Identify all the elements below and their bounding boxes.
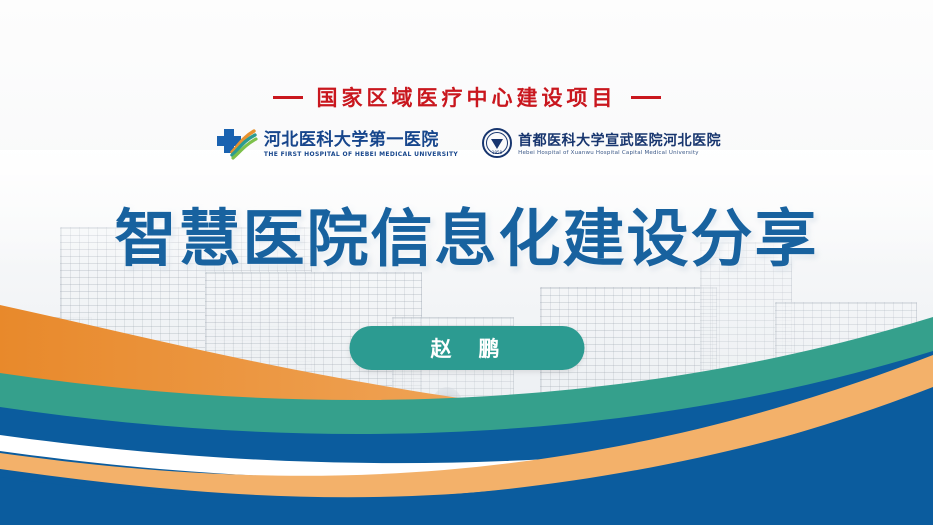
logo-text-group: 首都医科大学宣武医院河北医院 Hebei Hospital of Xuanwu … bbox=[518, 134, 721, 157]
logo-row: 河北医科大学第一医院 THE FIRST HOSPITAL OF HEBEI M… bbox=[0, 126, 933, 164]
circular-seal-icon: 1958 bbox=[482, 128, 512, 162]
banner-text: 国家区域医疗中心建设项目 bbox=[317, 82, 617, 112]
medical-cross-swoosh-icon bbox=[212, 126, 258, 164]
title-slide: 国家区域医疗中心建设项目 河北医科大学第一医院 THE FIRST HOSPIT… bbox=[0, 0, 933, 525]
logo-text-group: 河北医科大学第一医院 THE FIRST HOSPITAL OF HEBEI M… bbox=[264, 132, 458, 159]
logo-name-cn: 河北医科大学第一医院 bbox=[264, 132, 458, 150]
wave-decoration bbox=[0, 295, 933, 525]
logo-name-cn: 首都医科大学宣武医院河北医院 bbox=[518, 134, 721, 149]
logo-name-en: THE FIRST HOSPITAL OF HEBEI MEDICAL UNIV… bbox=[264, 151, 458, 158]
logo-xuanwu-hospital-hebei: 1958 首都医科大学宣武医院河北医院 Hebei Hospital of Xu… bbox=[482, 128, 721, 162]
banner-dash-left-icon bbox=[273, 96, 303, 99]
banner-dash-right-icon bbox=[631, 96, 661, 99]
svg-text:1958: 1958 bbox=[492, 150, 503, 155]
project-banner: 国家区域医疗中心建设项目 bbox=[0, 82, 933, 112]
page-title: 智慧医院信息化建设分享 bbox=[0, 188, 933, 278]
logo-hebei-medical-university-first-hospital: 河北医科大学第一医院 THE FIRST HOSPITAL OF HEBEI M… bbox=[212, 126, 458, 164]
logo-name-en: Hebei Hospital of Xuanwu Hospital Capita… bbox=[518, 150, 721, 156]
